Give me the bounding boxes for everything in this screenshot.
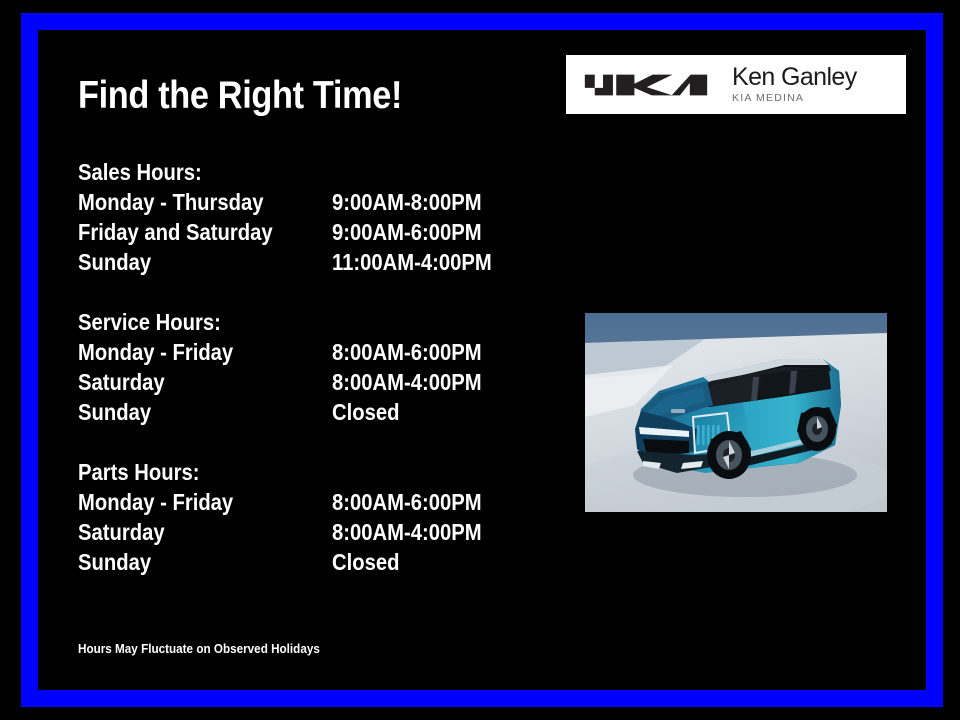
hours-row-time: 8:00AM-4:00PM [332, 517, 482, 547]
hours-row: Saturday8:00AM-4:00PM [78, 367, 548, 397]
dealer-wordmark: Ken Ganley KIA MEDINA [732, 65, 857, 104]
kia-logo-mark [584, 72, 708, 98]
dealer-name: Ken Ganley [732, 65, 857, 90]
hours-block: Sales Hours:Monday - Thursday9:00AM-8:00… [78, 157, 548, 277]
page-title: Find the Right Time! [78, 76, 402, 117]
hours-row-day: Saturday [78, 367, 165, 397]
hours-row-day: Monday - Friday [78, 337, 233, 367]
hours-row-day: Saturday [78, 517, 165, 547]
hours-row-time: 9:00AM-6:00PM [332, 217, 482, 247]
hours-row-day: Friday and Saturday [78, 217, 273, 247]
vehicle-photo-illustration [585, 313, 887, 512]
hours-row: SundayClosed [78, 397, 548, 427]
hours-block: Parts Hours:Monday - Friday8:00AM-6:00PM… [78, 457, 548, 577]
hours-panel: Sales Hours:Monday - Thursday9:00AM-8:00… [78, 157, 548, 577]
hours-row: Saturday8:00AM-4:00PM [78, 517, 548, 547]
hours-block-heading: Parts Hours: [78, 457, 492, 487]
hours-row: Monday - Friday8:00AM-6:00PM [78, 487, 548, 517]
hours-row-time: 8:00AM-6:00PM [332, 487, 482, 517]
hours-row-day: Sunday [78, 547, 151, 577]
hours-row-time: 9:00AM-8:00PM [332, 187, 482, 217]
hours-row-day: Sunday [78, 247, 151, 277]
hours-row-time: Closed [332, 397, 399, 427]
hours-row-time: 8:00AM-6:00PM [332, 337, 482, 367]
hours-row-day: Monday - Friday [78, 487, 233, 517]
hours-row: Sunday11:00AM-4:00PM [78, 247, 548, 277]
hours-row-day: Sunday [78, 397, 151, 427]
hours-row-day: Monday - Thursday [78, 187, 264, 217]
hours-row: Monday - Thursday9:00AM-8:00PM [78, 187, 548, 217]
hours-row: Monday - Friday8:00AM-6:00PM [78, 337, 548, 367]
hours-row-time: Closed [332, 547, 399, 577]
holiday-footnote: Hours May Fluctuate on Observed Holidays [78, 641, 320, 656]
dealer-subtitle: KIA MEDINA [732, 93, 857, 104]
hours-row-time: 8:00AM-4:00PM [332, 367, 482, 397]
hours-row-time: 11:00AM-4:00PM [332, 247, 492, 277]
vehicle-photo [585, 313, 887, 512]
hours-row: SundayClosed [78, 547, 548, 577]
slide-canvas: Find the Right Time! Sales Hours:Monday … [0, 0, 960, 720]
hours-block-heading: Service Hours: [78, 307, 492, 337]
hours-row: Friday and Saturday9:00AM-6:00PM [78, 217, 548, 247]
hours-block-heading: Sales Hours: [78, 157, 492, 187]
dealer-logo-panel[interactable]: Ken Ganley KIA MEDINA [566, 55, 906, 114]
hours-block: Service Hours:Monday - Friday8:00AM-6:00… [78, 307, 548, 427]
